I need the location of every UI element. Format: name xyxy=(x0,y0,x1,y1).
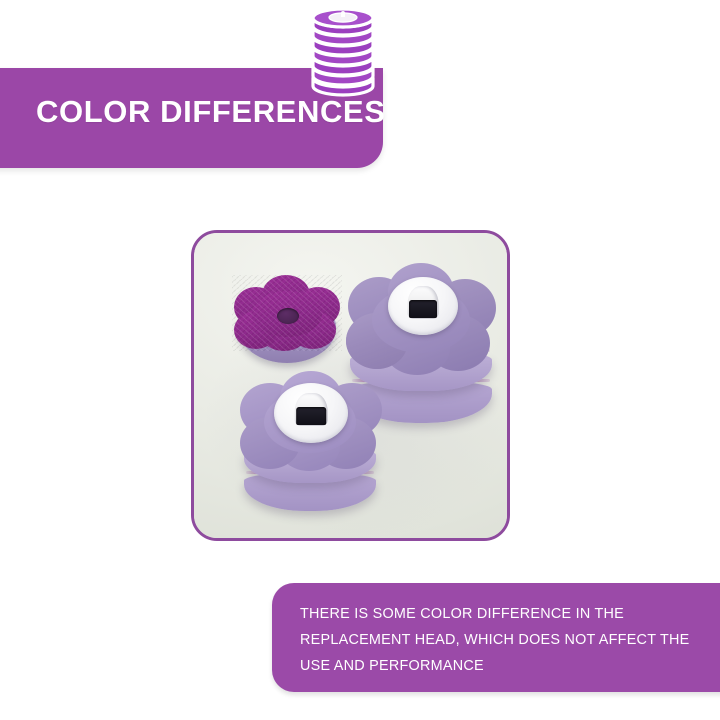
page-title: COLOR DIFFERENCES xyxy=(36,96,386,127)
caption-text: THERE IS SOME COLOR DIFFERENCE IN THE RE… xyxy=(300,601,700,679)
product-photo-panel xyxy=(191,230,510,541)
sponge-hub-right xyxy=(388,277,458,335)
caption-box: THERE IS SOME COLOR DIFFERENCE IN THE RE… xyxy=(272,583,720,692)
sponge-hub-front xyxy=(274,383,348,443)
dark-purple-scour-pad xyxy=(232,275,342,367)
sponge-stack-icon xyxy=(303,2,383,102)
sponge-stack-front xyxy=(236,371,386,531)
